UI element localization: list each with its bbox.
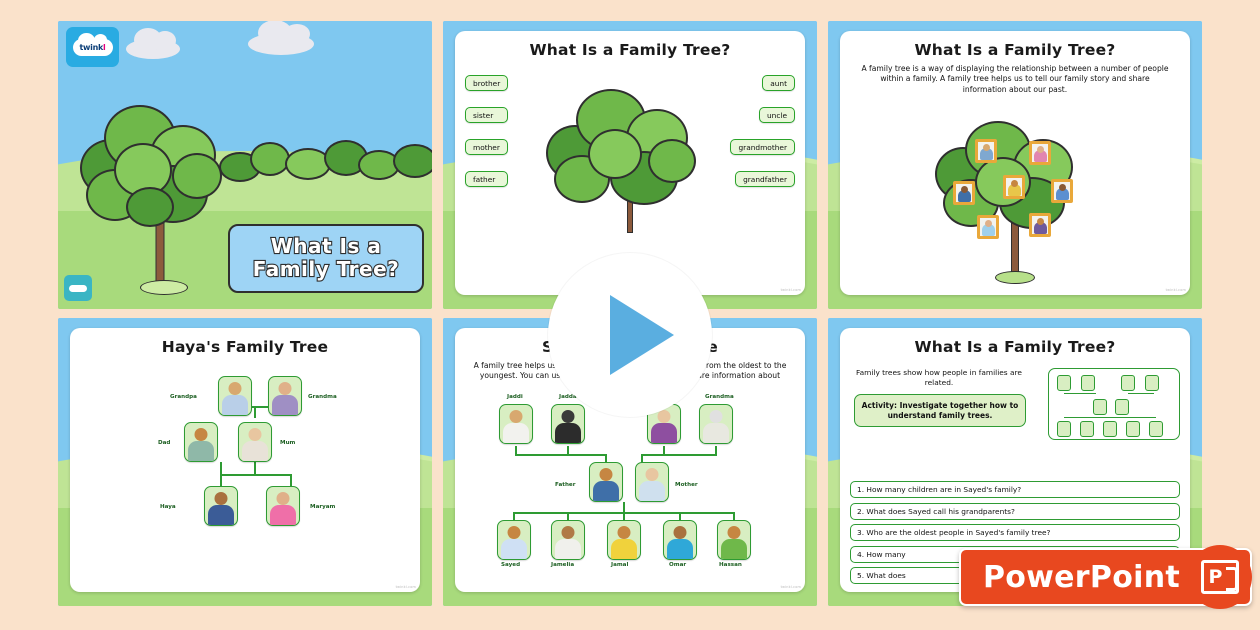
word-label-mother[interactable]: mother bbox=[465, 139, 508, 155]
photo-frame bbox=[1029, 213, 1051, 237]
family-tree-diagram: Grandpa Grandma Dad Mum Haya bbox=[70, 362, 420, 584]
person-label-grandma: Grandma bbox=[308, 394, 337, 400]
twinkl-watermark: twinkl.com bbox=[396, 585, 416, 589]
word-label-brother[interactable]: brother bbox=[465, 75, 508, 91]
person-mother bbox=[635, 462, 669, 502]
person-label-sayed: Sayed bbox=[501, 562, 520, 568]
photo-frame bbox=[1029, 141, 1051, 165]
question-item-1[interactable]: 1. How many children are in Sayed's fami… bbox=[850, 481, 1180, 498]
slide-title: Haya's Family Tree bbox=[82, 338, 408, 356]
tree-with-photos-illustration bbox=[931, 117, 1099, 282]
photo-frame bbox=[1051, 179, 1073, 203]
word-label-grandmother[interactable]: grandmother bbox=[730, 139, 795, 155]
slide-title: What Is a Family Tree? bbox=[852, 338, 1178, 356]
person-label-hassan: Hassan bbox=[719, 562, 742, 568]
cloud-icon bbox=[126, 39, 180, 59]
activity-intro-text: Family trees show how people in families… bbox=[854, 368, 1024, 388]
photo-frame bbox=[1003, 175, 1025, 199]
slide-haya-family-tree[interactable]: Haya's Family Tree Grandpa Grandma bbox=[58, 318, 432, 606]
person-label-dad: Dad bbox=[158, 440, 170, 446]
twinkl-watermark: twinkl.com bbox=[781, 288, 801, 292]
cover-title-line-1: What Is a bbox=[236, 235, 416, 257]
twinkl-logo-text: twinkl bbox=[80, 43, 106, 52]
play-triangle-icon bbox=[610, 295, 674, 375]
word-label-father[interactable]: father bbox=[465, 171, 508, 187]
person-maryam bbox=[266, 486, 300, 526]
question-item-3[interactable]: 3. Who are the oldest people in Sayed's … bbox=[850, 524, 1180, 541]
cloud-icon bbox=[248, 33, 314, 55]
person-label-omar: Omar bbox=[669, 562, 686, 568]
person-grandma bbox=[699, 404, 733, 444]
twinkl-logo: twinkl bbox=[66, 27, 119, 67]
vocabulary-right-column: aunt uncle grandmother grandfather bbox=[730, 75, 795, 187]
photo-frame bbox=[975, 139, 997, 163]
person-jamal bbox=[607, 520, 641, 560]
cover-title-banner: What Is a Family Tree? bbox=[228, 224, 424, 293]
slide-cover[interactable]: twinkl What Is a Family Tree? bbox=[58, 21, 432, 309]
person-haya bbox=[204, 486, 238, 526]
slide-title: What Is a Family Tree? bbox=[467, 41, 793, 59]
person-mum bbox=[238, 422, 272, 462]
person-label-maryam: Maryam bbox=[310, 504, 335, 510]
family-tree-diagram: Jaddi Jaddati Grandpa Grandma bbox=[455, 394, 805, 586]
slide-body-text: A family tree is a way of displaying the… bbox=[852, 64, 1178, 95]
powerpoint-icon-letter: P bbox=[1209, 566, 1223, 588]
twinkl-watermark-badge bbox=[64, 275, 92, 301]
person-label-jaddi: Jaddi bbox=[507, 394, 523, 400]
person-jaddi bbox=[499, 404, 533, 444]
person-label-jamal: Jamal bbox=[611, 562, 628, 568]
person-jamelia bbox=[551, 520, 585, 560]
play-button[interactable] bbox=[548, 253, 712, 417]
mini-family-tree-thumbnail bbox=[1048, 368, 1180, 440]
question-item-2[interactable]: 2. What does Sayed call his grandparents… bbox=[850, 503, 1180, 520]
person-label-grandpa: Grandpa bbox=[170, 394, 197, 400]
powerpoint-icon: P bbox=[1188, 545, 1252, 609]
word-label-grandfather[interactable]: grandfather bbox=[735, 171, 795, 187]
person-label-father: Father bbox=[555, 482, 575, 488]
cover-title-line-2: Family Tree? bbox=[236, 258, 416, 280]
photo-frame bbox=[953, 181, 975, 205]
person-label-grandma: Grandma bbox=[705, 394, 734, 400]
person-jaddati bbox=[551, 404, 585, 444]
person-dad bbox=[184, 422, 218, 462]
person-label-mum: Mum bbox=[280, 440, 295, 446]
person-father bbox=[589, 462, 623, 502]
twinkl-watermark: twinkl.com bbox=[1166, 288, 1186, 292]
word-label-uncle[interactable]: uncle bbox=[759, 107, 795, 123]
person-grandpa bbox=[218, 376, 252, 416]
word-label-aunt[interactable]: aunt bbox=[762, 75, 795, 91]
slide-content-card: Haya's Family Tree Grandpa Grandma bbox=[70, 328, 420, 592]
slide-content-card: What Is a Family Tree? A family tree is … bbox=[840, 31, 1190, 295]
person-label-haya: Haya bbox=[160, 504, 176, 510]
powerpoint-badge: PowerPoint P bbox=[959, 546, 1252, 608]
tree-illustration bbox=[544, 83, 716, 233]
person-grandma bbox=[268, 376, 302, 416]
slide-title: What Is a Family Tree? bbox=[852, 41, 1178, 59]
slide-definition[interactable]: What Is a Family Tree? A family tree is … bbox=[828, 21, 1202, 309]
powerpoint-badge-label: PowerPoint bbox=[983, 560, 1180, 595]
person-hassan bbox=[717, 520, 751, 560]
person-sayed bbox=[497, 520, 531, 560]
twinkl-watermark: twinkl.com bbox=[781, 585, 801, 589]
word-label-sister[interactable]: sister bbox=[465, 107, 508, 123]
photo-frame bbox=[977, 215, 999, 239]
vocabulary-left-column: brother sister mother father bbox=[465, 75, 508, 187]
person-omar bbox=[663, 520, 697, 560]
tree-illustration bbox=[76, 91, 252, 291]
person-label-jamelia: Jamelia bbox=[551, 562, 574, 568]
person-label-mother: Mother bbox=[675, 482, 698, 488]
activity-instruction-box: Activity: Investigate together how to un… bbox=[854, 394, 1026, 428]
